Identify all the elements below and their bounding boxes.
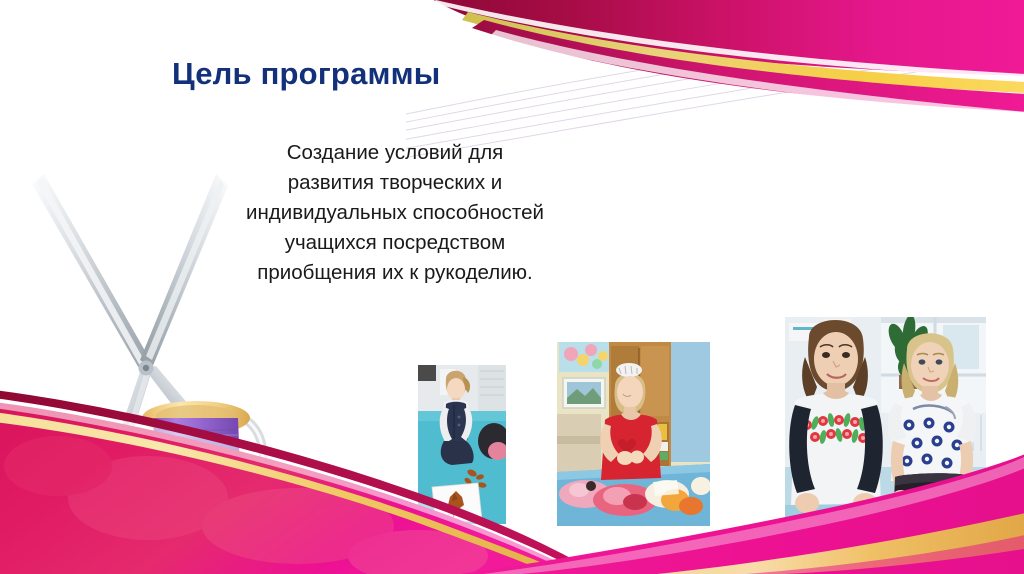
scissors-handle-loops <box>28 405 274 568</box>
scissors-blade-left <box>32 174 148 370</box>
page-title: Цель программы <box>172 56 440 92</box>
thread-spool <box>142 401 250 538</box>
photo-girl-leaves <box>418 365 506 524</box>
photo-girl-red <box>557 342 710 526</box>
scissors-pivot <box>139 361 154 376</box>
presentation-slide: Цель программы Создание условий для разв… <box>0 0 1024 574</box>
top-swoosh-decoration <box>406 0 1024 158</box>
slide-body-text: Создание условий для развития творческих… <box>245 138 545 288</box>
scissors-blade-right <box>140 174 228 368</box>
photo-girls-shirts <box>785 317 986 530</box>
